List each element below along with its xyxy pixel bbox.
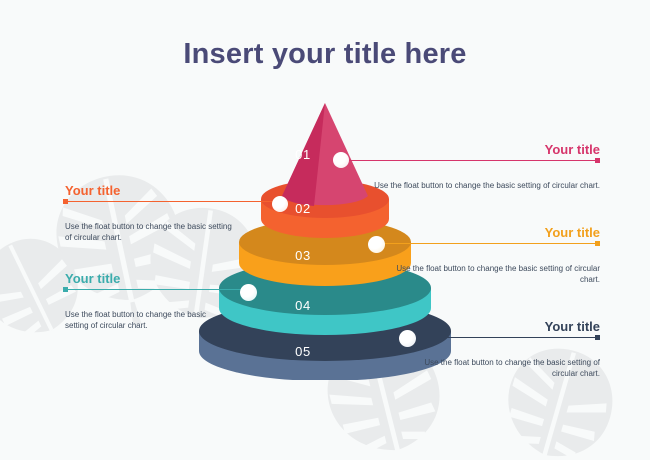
callout-right-2[interactable]: Your title Use the float button to chang…	[377, 225, 602, 285]
callout-left-2-desc: Use the float button to change the basic…	[63, 310, 221, 331]
callout-right-2-line	[377, 243, 598, 244]
callout-left-1-desc: Use the float button to change the basic…	[63, 222, 233, 243]
slide-canvas: Insert your title here 01 02 0	[0, 0, 650, 460]
callout-right-1-line	[340, 160, 598, 161]
callout-right-3-title: Your title	[408, 319, 602, 334]
callout-left-2-endpoint	[63, 287, 68, 292]
callout-left-2-line	[65, 289, 251, 290]
callout-right-3-endpoint	[595, 335, 600, 340]
callout-left-1-title: Your title	[63, 183, 283, 198]
callout-right-3-line	[408, 337, 598, 338]
callout-right-1-desc: Use the float button to change the basic…	[340, 181, 602, 192]
connector-dot-02[interactable]	[272, 196, 288, 212]
connector-dot-04[interactable]	[240, 284, 257, 301]
callout-left-1[interactable]: Your title Use the float button to chang…	[63, 183, 283, 243]
callout-right-3-desc: Use the float button to change the basic…	[408, 358, 602, 379]
callout-left-2[interactable]: Your title Use the float button to chang…	[63, 271, 251, 331]
callout-right-2-endpoint	[595, 241, 600, 246]
connector-dot-05[interactable]	[399, 330, 416, 347]
page-title: Insert your title here	[0, 38, 650, 71]
callout-left-1-endpoint	[63, 199, 68, 204]
callout-right-1[interactable]: Your title Use the float button to chang…	[340, 142, 602, 192]
callout-left-1-line	[65, 201, 283, 202]
connector-dot-03[interactable]	[368, 236, 385, 253]
connector-dot-01[interactable]	[333, 152, 349, 168]
callout-right-1-title: Your title	[340, 142, 602, 157]
callout-right-2-title: Your title	[377, 225, 602, 240]
callout-right-3[interactable]: Your title Use the float button to chang…	[408, 319, 602, 379]
callout-right-2-desc: Use the float button to change the basic…	[377, 264, 602, 285]
callout-left-2-title: Your title	[63, 271, 251, 286]
callout-right-1-endpoint	[595, 158, 600, 163]
